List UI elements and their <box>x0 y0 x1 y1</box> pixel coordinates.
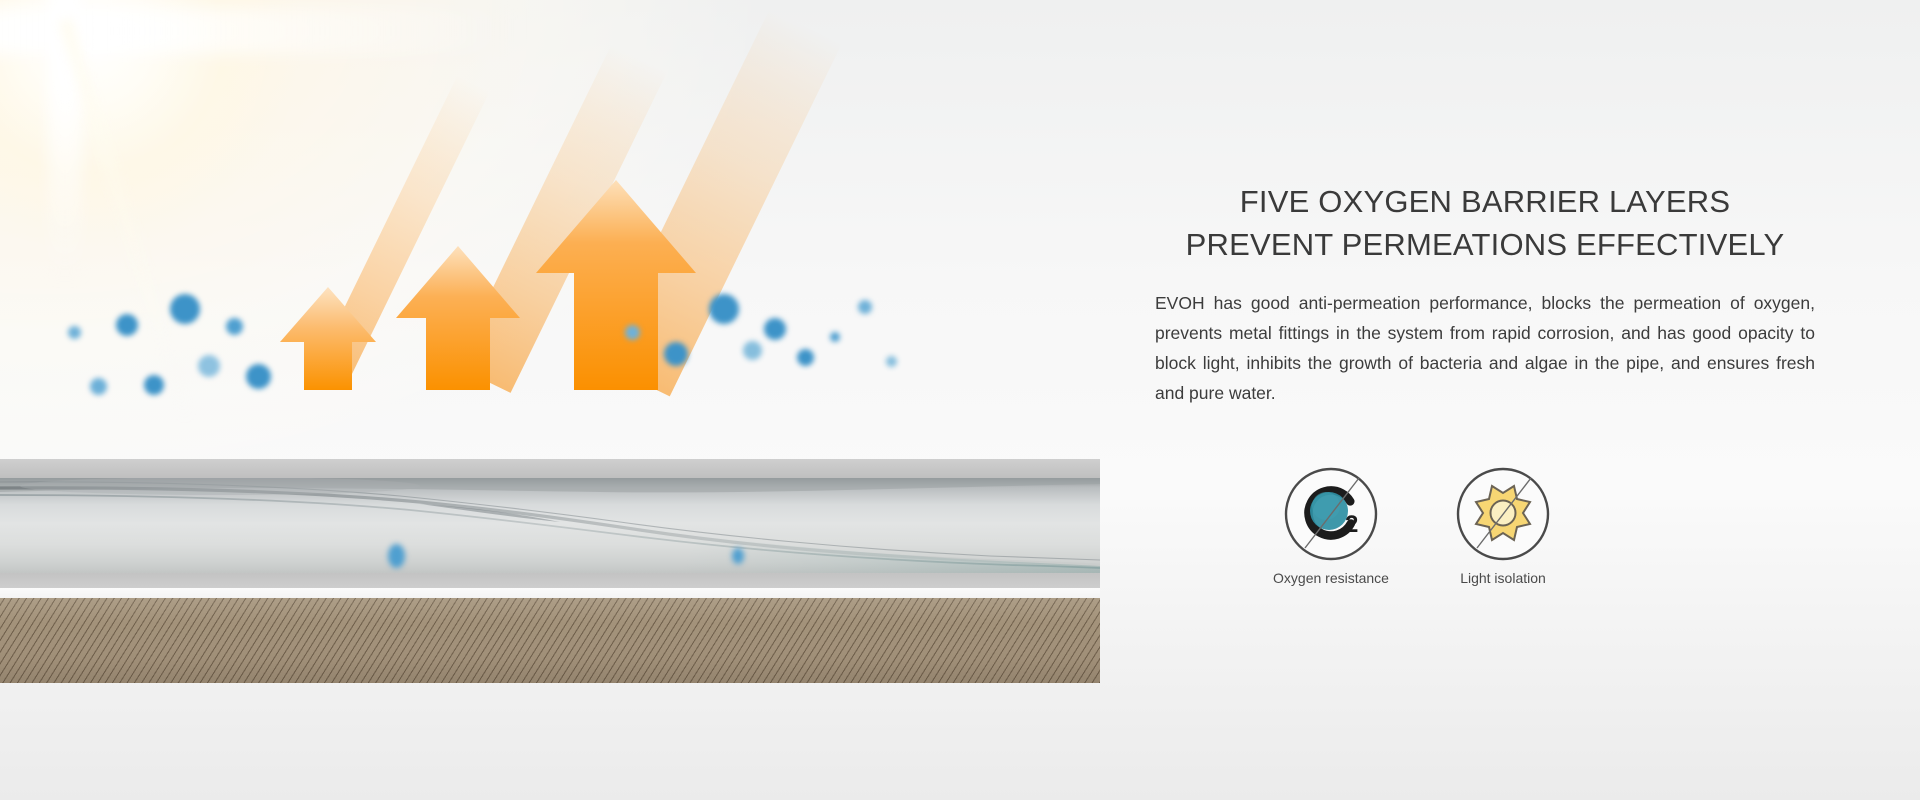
bubble-in-water <box>732 548 744 564</box>
pipe-layer-outer-gray-bottom <box>0 573 1100 588</box>
bubble <box>116 314 138 336</box>
bubble <box>664 342 688 366</box>
body-paragraph: EVOH has good anti-permeation performanc… <box>1155 288 1815 408</box>
sun-block-icon <box>1455 466 1551 562</box>
bubble <box>797 349 814 366</box>
bubble <box>764 318 786 340</box>
bubble <box>68 326 81 339</box>
feature-icon-row: 2 Oxygen resistance Light isolation <box>1155 466 1815 587</box>
pipe-cross-section <box>0 459 1100 683</box>
svg-text:2: 2 <box>1345 511 1358 538</box>
hatch-shading <box>0 598 1100 683</box>
o2-barrier-icon: 2 <box>1283 466 1379 562</box>
bubble <box>226 318 243 335</box>
feature-label: Oxygen resistance <box>1273 569 1389 587</box>
content-panel: FIVE OXYGEN BARRIER LAYERS PREVENT PERME… <box>1155 180 1815 587</box>
bubble <box>246 364 271 389</box>
pipe-layer-evoh-barrier <box>0 598 1100 683</box>
bubble <box>90 378 107 395</box>
bubble-in-water <box>388 544 405 568</box>
bubble <box>858 300 872 314</box>
pipe-layer-gap <box>0 588 1100 598</box>
water-wave-graphic <box>0 478 1100 573</box>
pipe-layer-water-flow <box>0 478 1100 573</box>
feature-light-isolation[interactable]: Light isolation <box>1443 466 1563 587</box>
pipe-layer-outer-gray-top <box>0 459 1100 478</box>
bubble <box>198 355 220 377</box>
bubble <box>144 375 164 395</box>
feature-oxygen-resistance[interactable]: 2 Oxygen resistance <box>1271 466 1391 587</box>
bubble <box>625 325 640 340</box>
bubble <box>170 294 200 324</box>
product-banner: FIVE OXYGEN BARRIER LAYERS PREVENT PERME… <box>0 0 1920 800</box>
bubble <box>886 356 897 367</box>
page-title: FIVE OXYGEN BARRIER LAYERS PREVENT PERME… <box>1155 180 1815 266</box>
bubble <box>743 341 762 360</box>
bubble <box>830 332 840 342</box>
bubble <box>709 294 739 324</box>
feature-label: Light isolation <box>1460 569 1546 587</box>
